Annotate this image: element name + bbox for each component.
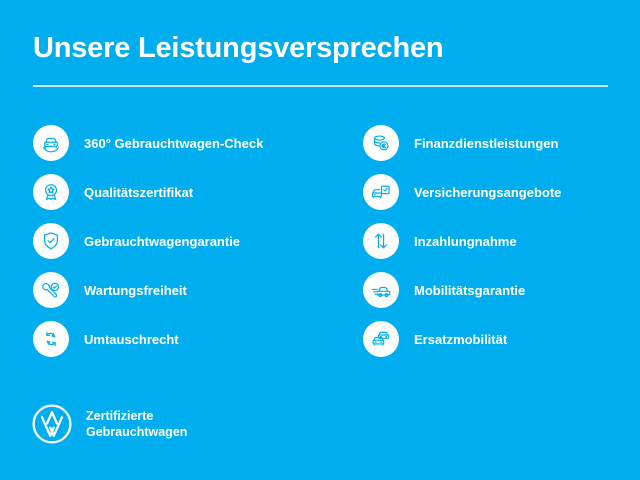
feature-label: 360° Gebrauchtwagen-Check: [84, 136, 263, 151]
brand-lockup: Zertifizierte Gebrauchtwagen: [31, 403, 187, 445]
feature-item-360-gebrauchtwagen-check[interactable]: 360° Gebrauchtwagen-Check: [33, 125, 323, 174]
brand-line-2: Gebrauchtwagen: [86, 424, 187, 440]
brand-text: Zertifizierte Gebrauchtwagen: [86, 408, 187, 440]
leistungsversprechen-panel: Unsere Leistungsversprechen 360° Gebrauc…: [0, 0, 640, 480]
feature-column-right: Finanzdienstleistungen Versicherungsange…: [363, 125, 640, 370]
car-document-icon: [363, 174, 399, 210]
exchange-arrows-icon: [33, 321, 69, 357]
feature-item-qualitaetszertifikat[interactable]: Qualitätszertifikat: [33, 174, 323, 223]
feature-label: Finanzdienstleistungen: [414, 136, 558, 151]
feature-label: Qualitätszertifikat: [84, 185, 193, 200]
feature-item-inzahlungnahme[interactable]: Inzahlungnahme: [363, 223, 640, 272]
feature-label: Versicherungsangebote: [414, 185, 561, 200]
vw-roundel-logo: [31, 403, 73, 445]
feature-label: Umtauschrecht: [84, 332, 179, 347]
feature-item-ersatzmobilitaet[interactable]: Ersatzmobilität: [363, 321, 640, 370]
brand-line-1: Zertifizierte: [86, 408, 187, 424]
feature-item-gebrauchtwagengarantie[interactable]: Gebrauchtwagengarantie: [33, 223, 323, 272]
feature-item-mobilitaetsgarantie[interactable]: Mobilitätsgarantie: [363, 272, 640, 321]
wrench-check-icon: [33, 272, 69, 308]
page-title: Unsere Leistungsversprechen: [33, 31, 443, 65]
two-cars-icon: [363, 321, 399, 357]
feature-label: Mobilitätsgarantie: [414, 283, 525, 298]
car-360-check-icon: [33, 125, 69, 161]
feature-item-versicherungsangebote[interactable]: Versicherungsangebote: [363, 174, 640, 223]
car-speed-icon: [363, 272, 399, 308]
feature-label: Ersatzmobilität: [414, 332, 507, 347]
title-divider: [33, 85, 608, 87]
feature-label: Gebrauchtwagengarantie: [84, 234, 240, 249]
shield-check-icon: [33, 223, 69, 259]
feature-column-left: 360° Gebrauchtwagen-Check Qualitätszerti…: [33, 125, 323, 370]
feature-item-umtauschrecht[interactable]: Umtauschrecht: [33, 321, 323, 370]
feature-item-wartungsfreiheit[interactable]: Wartungsfreiheit: [33, 272, 323, 321]
coins-euro-icon: [363, 125, 399, 161]
arrows-up-down-icon: [363, 223, 399, 259]
award-rosette-icon: [33, 174, 69, 210]
feature-label: Wartungsfreiheit: [84, 283, 187, 298]
feature-label: Inzahlungnahme: [414, 234, 517, 249]
feature-item-finanzdienstleistungen[interactable]: Finanzdienstleistungen: [363, 125, 640, 174]
